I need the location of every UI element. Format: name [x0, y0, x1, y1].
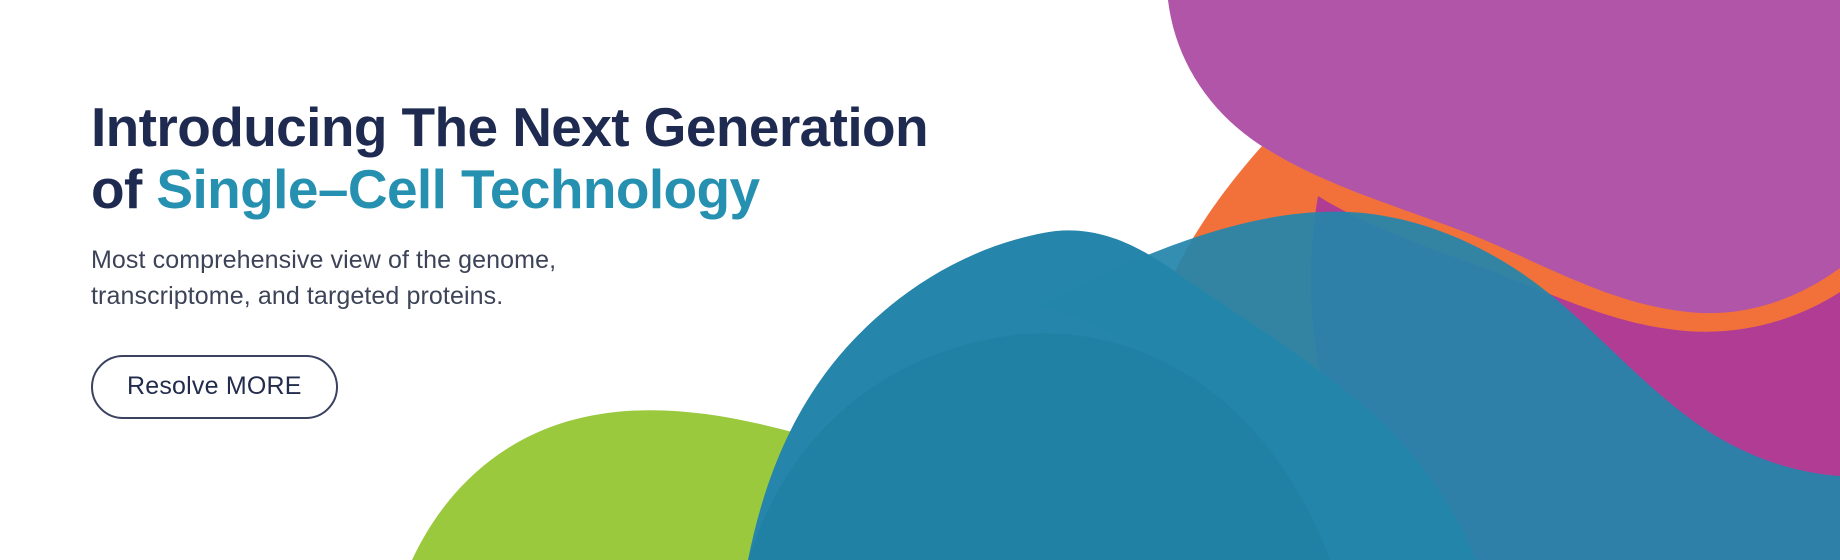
magenta-light-blob [1168, 0, 1840, 315]
banner-subtitle: Most comprehensive view of the genome, t… [91, 220, 691, 314]
headline-line-2-accent: Single–Cell Technology [156, 158, 759, 220]
page-title: Introducing The Next Generation of Singl… [91, 96, 951, 220]
headline-line-2-prefix: of [91, 158, 156, 220]
magenta-dark-blob [1311, 196, 1840, 560]
cta-container: Resolve MORE [91, 314, 951, 419]
subtitle-line-2: transcriptome, and targeted proteins. [91, 282, 503, 310]
orange-blob [1141, 146, 1840, 560]
headline-line-1: Introducing The Next Generation [91, 96, 928, 158]
teal-blue-overlay-blob [1040, 212, 1840, 560]
banner-content: Introducing The Next Generation of Singl… [91, 96, 951, 419]
resolve-more-button[interactable]: Resolve MORE [91, 355, 338, 419]
subtitle-line-1: Most comprehensive view of the genome, [91, 246, 556, 274]
hero-banner: Introducing The Next Generation of Singl… [0, 0, 1840, 560]
